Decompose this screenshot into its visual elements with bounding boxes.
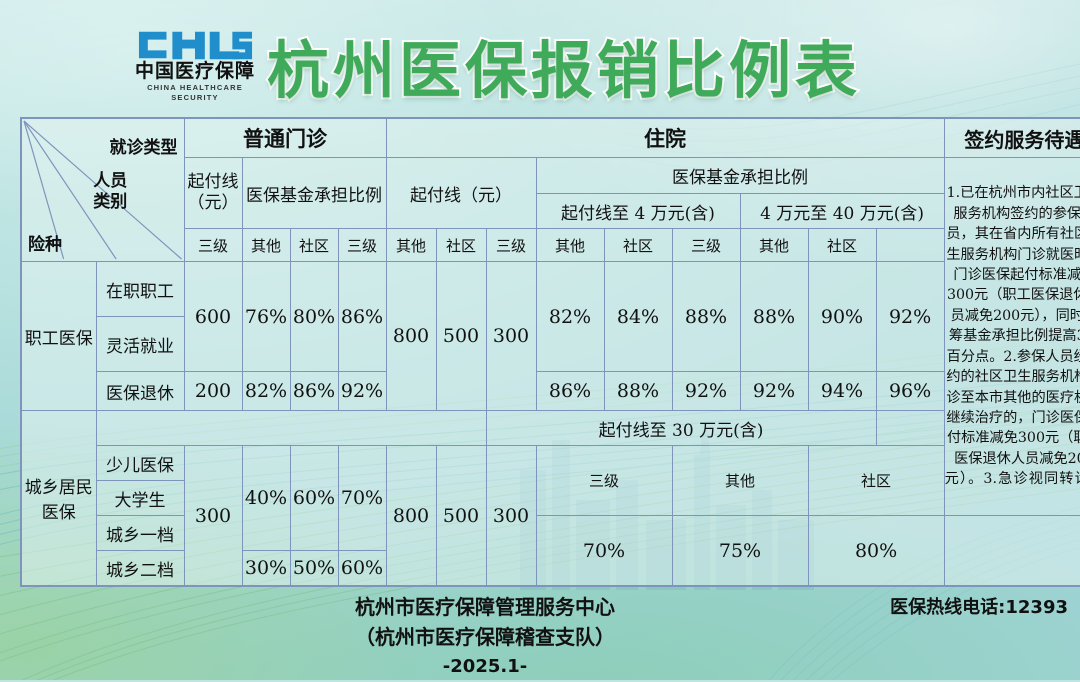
table-row: 职工医保 在职职工 600 76% 80% 86% 800 500 300 82… (21, 262, 1080, 317)
res-level-other: 其他 (672, 446, 808, 516)
res-op-top-community: 70% (338, 446, 386, 551)
ip-fund-ratio-header: 医保基金承担比例 (536, 158, 944, 194)
op-threshold-header: 起付线 （元） (184, 158, 242, 229)
corner-label-visit-type: 就诊类型 (110, 133, 178, 158)
category-active-employee: 在职职工 (96, 262, 184, 317)
resident-band-header: 起付线至 30 万元(含) (486, 411, 876, 446)
emp-active-op-threshold: 600 (184, 262, 242, 372)
op-level-other: 其他 (242, 229, 290, 262)
category-retired: 医保退休 (96, 372, 184, 411)
ip-thr-level-other: 其他 (386, 229, 436, 262)
emp-active-op-tertiary: 76% (242, 262, 290, 372)
emp-retired-op-threshold: 200 (184, 372, 242, 411)
emp-active-op-other: 80% (290, 262, 338, 372)
res-op-bottom-community: 60% (338, 551, 386, 587)
corner-header-cell: 就诊类型 人员 类别 险种 (21, 118, 184, 262)
category-urban-rural-tier1: 城乡一档 (96, 516, 184, 551)
emp-active-ip-b1-other: 84% (604, 262, 672, 372)
res-op-threshold: 300 (184, 446, 242, 587)
emp-retired-ip-b2-community: 96% (876, 372, 944, 411)
emp-active-ip-b2-other: 90% (808, 262, 876, 372)
footer-date: -2025.1- (0, 652, 970, 682)
group-header-outpatient: 普通门诊 (184, 118, 386, 158)
table-row: 少儿医保 300 40% 60% 70% 800 500 300 三级 其他 社… (21, 446, 1080, 481)
ip-b2-level-other: 其他 (740, 229, 808, 262)
reimbursement-table: 就诊类型 人员 类别 险种 普通门诊 住院 签约服务待遇 起付线 （元） 医保基… (20, 117, 1080, 587)
table-row: 城乡一档 70% 75% 80% (21, 516, 1080, 551)
ip-thr-level-tertiary: 三级 (338, 229, 386, 262)
op-level-community: 社区 (290, 229, 338, 262)
insurance-resident: 城乡居民 医保 (21, 411, 96, 587)
resident-blank-span (96, 411, 486, 446)
emp-active-ip-b1-tertiary: 82% (536, 262, 604, 372)
op-fund-ratio-header: 医保基金承担比例 (242, 158, 386, 229)
res-ip-threshold-other: 500 (436, 446, 486, 587)
corner-label-person-category: 人员 类别 (93, 171, 127, 213)
res-op-bottom-tertiary: 30% (242, 551, 290, 587)
insurance-employee: 职工医保 (21, 262, 96, 411)
emp-retired-op-other: 86% (290, 372, 338, 411)
table-row: 医保退休 200 82% 86% 92% 86% 88% 92% 92% 94%… (21, 372, 1080, 411)
emp-retired-ip-b1-community: 92% (672, 372, 740, 411)
category-child-insurance: 少儿医保 (96, 446, 184, 481)
footer-org-line1: 杭州市医疗保障管理服务中心 (0, 592, 970, 622)
res-ip-tertiary: 70% (536, 516, 672, 587)
ip-band-2-header: 4 万元至 40 万元(含) (740, 194, 944, 229)
emp-retired-ip-b1-tertiary: 86% (536, 372, 604, 411)
ip-b1-level-other: 其他 (536, 229, 604, 262)
ip-b1-level-tertiary: 三级 (486, 229, 536, 262)
res-ip-other: 75% (672, 516, 808, 587)
footer-org-line2: （杭州市医疗保障稽查支队） (0, 622, 970, 652)
emp-active-ip-b2-community: 92% (876, 262, 944, 372)
signed-service-text: 1.已在杭州市内社区卫生服务机构签约的参保人员，其在省内所有社区卫生服务机构门诊… (944, 158, 1080, 516)
emp-retired-op-tertiary: 82% (242, 372, 290, 411)
res-op-bottom-other: 50% (290, 551, 338, 587)
emp-active-ip-b2-tertiary: 88% (740, 262, 808, 372)
page-title: 杭州医保报销比例表 (0, 20, 1080, 110)
emp-retired-op-community: 92% (338, 372, 386, 411)
res-ip-threshold-community: 300 (486, 446, 536, 587)
category-college-student: 大学生 (96, 481, 184, 516)
emp-ip-threshold-other: 500 (436, 262, 486, 411)
emp-active-op-community: 86% (338, 262, 386, 372)
res-op-top-other: 60% (290, 446, 338, 551)
group-header-signed-service: 签约服务待遇 (944, 118, 1080, 158)
ip-b1-level-community: 社区 (604, 229, 672, 262)
corner-label-insurance-type: 险种 (28, 230, 62, 255)
ip-threshold-header: 起付线（元） (386, 158, 536, 229)
group-header-inpatient: 住院 (386, 118, 944, 158)
ip-thr-level-community: 社区 (436, 229, 486, 262)
emp-retired-ip-b2-other: 94% (808, 372, 876, 411)
ip-band-1-header: 起付线至 4 万元(含) (536, 194, 740, 229)
emp-active-ip-b1-community: 88% (672, 262, 740, 372)
res-op-top-tertiary: 40% (242, 446, 290, 551)
reimbursement-table-wrapper: 就诊类型 人员 类别 险种 普通门诊 住院 签约服务待遇 起付线 （元） 医保基… (20, 117, 1060, 587)
res-ip-community: 80% (808, 516, 944, 587)
ip-b2-level-community: 社区 (808, 229, 876, 262)
table-row: 城乡居民 医保 起付线至 30 万元(含) (21, 411, 1080, 446)
page-header: 中国医疗保障 CHINA HEALTHCARE SECURITY 杭州医保报销比… (0, 0, 1080, 110)
emp-retired-ip-b1-other: 88% (604, 372, 672, 411)
op-level-tertiary: 三级 (184, 229, 242, 262)
emp-ip-threshold-tertiary: 800 (386, 262, 436, 411)
res-level-community: 社区 (808, 446, 944, 516)
res-level-tertiary: 三级 (536, 446, 672, 516)
category-urban-rural-tier2: 城乡二档 (96, 551, 184, 587)
ip-b2-level-tertiary: 三级 (672, 229, 740, 262)
category-flexible-employment: 灵活就业 (96, 317, 184, 372)
emp-retired-ip-b2-tertiary: 92% (740, 372, 808, 411)
res-ip-threshold-tertiary: 800 (386, 446, 436, 587)
emp-ip-threshold-community: 300 (486, 262, 536, 411)
footer-hotline: 医保热线电话:12393 (890, 593, 1068, 619)
